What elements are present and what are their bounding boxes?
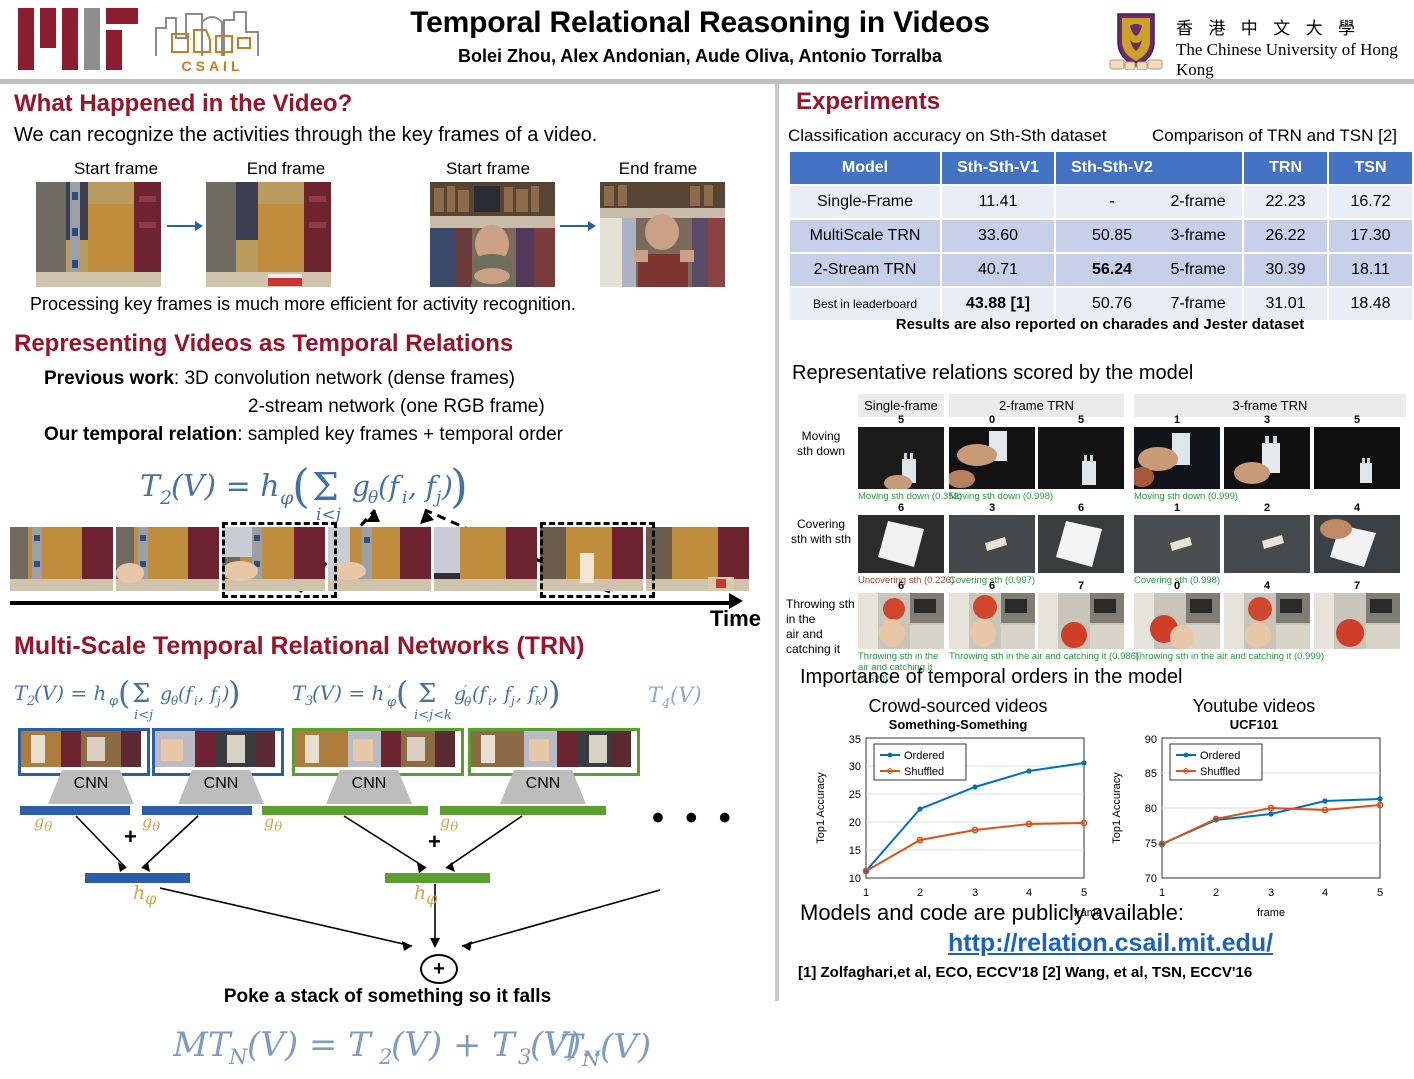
table2-caption: Comparison of TRN and TSN [2]	[1152, 126, 1397, 146]
svg-text:5: 5	[1377, 887, 1383, 899]
rr-r2-three-num-1: 2	[1224, 502, 1310, 514]
t2-r1-tsn: 17.30	[1329, 220, 1412, 252]
tables-note: Results are also reported on charades an…	[786, 316, 1414, 333]
svg-text:25: 25	[849, 789, 861, 801]
cuhk-shield-icon	[1108, 10, 1164, 70]
svg-text:90: 90	[1145, 734, 1157, 746]
t2-r2-frame: 5-frame	[1154, 254, 1242, 286]
poster-header: CSAIL Temporal Relational Reasoning in V…	[0, 0, 1414, 80]
t2-r2-trn: 30.39	[1244, 254, 1327, 286]
rr-r1-three-num-0: 1	[1134, 414, 1220, 426]
chart1-title: Crowd-sourced videos	[808, 696, 1108, 717]
frame-label-start-1: Start frame	[36, 159, 196, 179]
section1-caption: Processing key frames is much more effic…	[30, 294, 576, 315]
rr-r1-three-num-2: 5	[1314, 414, 1400, 426]
rr-r1-three-img-1	[1224, 427, 1310, 489]
chart2-legend-ordered: Ordered	[1200, 750, 1240, 762]
cuhk-english-name: The Chinese University of Hong Kong	[1176, 40, 1408, 80]
formula-t4-small: T4(V)	[648, 674, 728, 719]
svg-text:(f: (f	[178, 683, 195, 705]
time-axis-label: Time	[710, 606, 761, 632]
svg-text:2: 2	[1213, 887, 1219, 899]
video-thumb-end-2	[600, 182, 725, 287]
rr-r1-two-img-1	[1038, 427, 1124, 489]
t2-r0-frame: 2-frame	[1154, 186, 1242, 218]
chart1-plot: 101520 253035 123 45 frame Top1 Accuracy…	[808, 732, 1108, 920]
column-divider	[775, 84, 779, 1001]
chart1-ylabel: Top1 Accuracy	[815, 772, 827, 844]
csail-skyline-icon	[150, 8, 275, 60]
table-row: 5-frame 30.39 18.11	[1154, 254, 1412, 286]
rr-r2-three-num-0: 1	[1134, 502, 1220, 514]
chart2-plot: 707580 8590 123 45 frame Top1 Accuracy O…	[1104, 732, 1404, 920]
rr-r3-three-pred: Throwing sth in the air and catching it …	[1134, 651, 1324, 662]
our-relation-text: : sampled key frames + temporal order	[237, 424, 563, 445]
references-text: [1] Zolfaghari,et al, ECO, ECCV'18 [2] W…	[798, 964, 1252, 981]
rr-r2-two-img-0	[949, 515, 1035, 573]
svg-text:MT: MT	[173, 1025, 233, 1065]
chart-crowd-sourced: Crowd-sourced videos Something-Something…	[808, 696, 1108, 926]
cnn-label-3: CNN	[326, 772, 412, 796]
svg-text:10: 10	[849, 873, 861, 885]
author-list: Bolei Zhou, Alex Andonian, Aude Oliva, A…	[290, 46, 1110, 67]
rr-r1-two-num-0: 0	[949, 414, 1035, 426]
rr-r3-three-img-2	[1314, 593, 1400, 649]
table2-col-trn: TRN	[1244, 152, 1327, 184]
arrow-icon-1	[167, 219, 203, 231]
svg-text:30: 30	[849, 761, 861, 773]
rr-row-label-1: Movingsth down	[788, 429, 854, 459]
rr-r1-three-pred: Moving sth down (0.999)	[1134, 491, 1238, 502]
svg-text:2: 2	[917, 887, 923, 899]
formula-t2-small: T2 (V) = hφ ( Σ gθ (fi , fj ) ) i<j	[14, 670, 254, 733]
left-column: What Happened in the Video? We can recog…	[0, 84, 775, 1001]
svg-text:1: 1	[1159, 887, 1165, 899]
rr-r2-two-img-1	[1038, 515, 1124, 573]
svg-text:(: (	[396, 674, 408, 712]
svg-text:Σ: Σ	[418, 679, 436, 709]
svg-text:(V): (V)	[600, 1027, 651, 1067]
svg-text:): )	[228, 674, 240, 712]
poke-caption: Poke a stack of something so it falls	[0, 986, 775, 1008]
rr-r2-three-img-0	[1134, 515, 1220, 573]
trn-group-2frame-a	[18, 728, 150, 776]
t1-r0-v1: 11.41	[942, 186, 1054, 218]
svg-text:i<j: i<j	[134, 708, 153, 723]
rr-r2-two-num-1: 6	[1038, 502, 1124, 514]
chart2-subtitle: UCF101	[1104, 717, 1404, 732]
rr-r3-two-img-0	[949, 593, 1035, 649]
rr-r3-single-img	[858, 593, 944, 649]
svg-text:N: N	[581, 1047, 601, 1071]
right-column: Experiments Classification accuracy on S…	[786, 84, 1414, 1001]
svg-text:35: 35	[849, 734, 861, 746]
rr-r2-single-num: 6	[858, 502, 944, 514]
accuracy-table: Model Sth-Sth-V1 Sth-Sth-V2 Single-Frame…	[788, 150, 1170, 322]
rr-r3-two-img-1	[1038, 593, 1124, 649]
previous-work-line2: 2-stream network (one RGB frame)	[248, 396, 545, 418]
video-thumb-end-1	[206, 182, 331, 287]
chart2-ylabel: Top1 Accuracy	[1111, 772, 1123, 844]
csail-wordmark: CSAIL	[150, 58, 275, 74]
rr-r3-three-num-1: 4	[1224, 580, 1310, 592]
chart2-legend-shuffled: Shuffled	[1200, 766, 1240, 778]
filmstrip-frame-7	[646, 527, 749, 591]
section-multiscale-title: Multi-Scale Temporal Relational Networks…	[14, 632, 584, 661]
section1-lead-text: We can recognize the activities through …	[14, 124, 597, 147]
svg-text:θ: θ	[464, 695, 472, 709]
filmstrip-frame-2	[116, 527, 219, 591]
cnn-label-1: CNN	[48, 772, 134, 796]
cnn-label-4: CNN	[500, 772, 586, 796]
svg-text:85: 85	[1145, 768, 1157, 780]
charts-section-title: Importance of temporal orders in the mod…	[800, 666, 1182, 689]
trn-tsn-table: TRN TSN 2-frame 22.23 16.72 3-frame 26.2…	[1152, 150, 1414, 322]
rr-r3-three-num-0: 0	[1134, 580, 1220, 592]
svg-text:Σ: Σ	[132, 679, 150, 709]
table2-col-tsn: TSN	[1329, 152, 1412, 184]
t1-r1-model: MultiScale TRN	[790, 220, 940, 252]
svg-text:i<j<k: i<j<k	[414, 708, 452, 723]
rr-r1-single-pred: Moving sth down (0.352)	[858, 491, 962, 502]
t1-r1-v1: 33.60	[942, 220, 1054, 252]
models-code-text: Models and code are publicly available:	[800, 900, 1184, 926]
previous-work-line: Previous work: 3D convolution network (d…	[44, 368, 515, 390]
poster-root: CSAIL Temporal Relational Reasoning in V…	[0, 0, 1414, 1001]
ellipsis-more-scales: • • •	[652, 799, 737, 838]
frame-label-start-2: Start frame	[408, 159, 568, 179]
cuhk-chinese-name: 香 港 中 文 大 學	[1176, 14, 1360, 39]
svg-text:(f: (f	[472, 683, 489, 705]
t2-r1-frame: 3-frame	[1154, 220, 1242, 252]
svg-text:15: 15	[849, 845, 861, 857]
table-row: Single-Frame 11.41 -	[790, 186, 1168, 218]
filmstrip-highlight-box-1	[222, 522, 337, 598]
rr-r3-two-num-0: 6	[949, 580, 1035, 592]
chart-youtube: Youtube videos UCF101 707580 8590 123 45…	[1104, 696, 1404, 926]
section-experiments-title: Experiments	[796, 88, 940, 116]
rr-r2-three-img-2	[1314, 515, 1400, 573]
table1-col-model: Model	[790, 152, 940, 184]
previous-work-text: : 3D convolution network (dense frames)	[174, 368, 515, 389]
rr-r1-single-img	[858, 427, 944, 489]
filmstrip-frame-1	[10, 527, 113, 591]
chart1-subtitle: Something-Something	[808, 717, 1108, 732]
svg-text:(V): (V)	[670, 683, 702, 707]
summation-node: +	[420, 954, 458, 984]
video-thumb-start-1	[36, 182, 161, 287]
h-phi-label-1: hφ	[133, 882, 156, 908]
t1-r2-model: 2-Stream TRN	[790, 254, 940, 286]
rr-r1-three-img-2	[1314, 427, 1400, 489]
rr-r1-single-num: 5	[858, 414, 944, 426]
rr-r2-single-img	[858, 515, 944, 573]
section-what-happened-title: What Happened in the Video?	[14, 90, 352, 118]
rr-r1-two-pred: Moving sth down (0.998)	[949, 491, 1053, 502]
table2-col-blank	[1154, 152, 1242, 184]
rr-r3-three-img-1	[1224, 593, 1310, 649]
rr-r1-two-num-1: 5	[1038, 414, 1124, 426]
chart1-legend-ordered: Ordered	[904, 750, 944, 762]
trn-group-2frame-b	[152, 728, 284, 776]
chart2-title: Youtube videos	[1104, 696, 1404, 717]
frame-label-end-2: End frame	[578, 159, 738, 179]
rr-row-label-2: Coveringsth with sth	[786, 517, 856, 547]
svg-text:(V) = T: (V) = T	[247, 1025, 373, 1065]
t2-r0-trn: 22.23	[1244, 186, 1327, 218]
chart1-legend-shuffled: Shuffled	[904, 766, 944, 778]
svg-text:4: 4	[1322, 887, 1328, 899]
rr-r1-three-num-1: 3	[1224, 414, 1310, 426]
our-relation-line: Our temporal relation: sampled key frame…	[44, 424, 563, 446]
formula-mtn-tail: TN(V)	[560, 1022, 670, 1077]
rr-r3-three-img-0	[1134, 593, 1220, 649]
rr-r2-two-num-0: 3	[949, 502, 1035, 514]
svg-text:(V) = h: (V) = h	[312, 681, 384, 705]
table-row: 2-frame 22.23 16.72	[1154, 186, 1412, 218]
t2-r2-tsn: 18.11	[1329, 254, 1412, 286]
rr-row-label-3: Throwing sth in theair and catching it	[786, 597, 860, 657]
rr-r3-three-num-2: 7	[1314, 580, 1400, 592]
svg-text:70: 70	[1145, 873, 1157, 885]
svg-text:80: 80	[1145, 803, 1157, 815]
time-axis-line	[10, 601, 730, 605]
t2-r0-tsn: 16.72	[1329, 186, 1412, 218]
svg-text:(V) + T: (V) + T	[391, 1025, 517, 1065]
svg-text:4: 4	[1026, 887, 1032, 899]
relation-bar-green	[385, 873, 490, 883]
filmstrip-frame-4	[328, 527, 431, 591]
project-url-link[interactable]: http://relation.csail.mit.edu/	[948, 929, 1273, 958]
t1-r0-model: Single-Frame	[790, 186, 940, 218]
mit-logo	[18, 8, 138, 70]
our-relation-label: Our temporal relation	[44, 424, 237, 445]
svg-text:75: 75	[1145, 838, 1157, 850]
rr-r1-three-img-0	[1134, 427, 1220, 489]
rr-r3-two-pred: Throwing sth in the air and catching it …	[949, 651, 1139, 662]
svg-text:N: N	[228, 1045, 248, 1069]
rr-r3-single-num: 6	[858, 580, 944, 592]
video-thumb-start-2	[430, 182, 555, 287]
table-row: 3-frame 26.22 17.30	[1154, 220, 1412, 252]
representative-relations-title: Representative relations scored by the m…	[792, 362, 1193, 385]
t1-r2-v1: 40.71	[942, 254, 1054, 286]
svg-text:5: 5	[1081, 887, 1087, 899]
formula-t3-small: T3 (V) = h′φ ( Σ g′θ (fi , fj , fk ) ) i…	[292, 670, 582, 733]
rr-r2-three-num-2: 4	[1314, 502, 1400, 514]
svg-text:(V) = h: (V) = h	[34, 681, 106, 705]
rr-r3-two-num-1: 7	[1038, 580, 1124, 592]
trn-group-3frame-a	[292, 728, 464, 776]
svg-text:T: T	[140, 469, 162, 504]
cnn-label-2: CNN	[178, 772, 264, 796]
filmstrip-frame-5	[434, 527, 537, 591]
previous-work-label: Previous work	[44, 368, 174, 389]
svg-text:3: 3	[1268, 887, 1274, 899]
rr-r1-two-img-0	[949, 427, 1035, 489]
rr-r2-three-img-1	[1224, 515, 1310, 573]
frame-label-end-1: End frame	[206, 159, 366, 179]
table-row: 2-Stream TRN 40.71 56.24	[790, 254, 1168, 286]
table1-caption: Classification accuracy on Sth-Sth datas…	[788, 126, 1106, 146]
cuhk-logo: 香 港 中 文 大 學 The Chinese University of Ho…	[1108, 8, 1408, 74]
svg-text:20: 20	[849, 817, 861, 829]
csail-logo: CSAIL	[150, 8, 275, 76]
trn-group-3frame-b	[468, 728, 640, 776]
table1-header-row: Model Sth-Sth-V1 Sth-Sth-V2	[790, 152, 1168, 184]
chart2-xlabel: frame	[1257, 907, 1285, 919]
page-title: Temporal Relational Reasoning in Videos	[290, 6, 1110, 40]
svg-text:(: (	[118, 674, 130, 712]
svg-text:): )	[548, 674, 560, 712]
table-row: MultiScale TRN 33.60 50.85	[790, 220, 1168, 252]
table2-header-row: TRN TSN	[1154, 152, 1412, 184]
h-phi-label-2: hφ	[414, 882, 437, 908]
table1-col-v1: Sth-Sth-V1	[942, 152, 1054, 184]
svg-text:3: 3	[972, 887, 978, 899]
svg-text:4: 4	[661, 697, 670, 712]
svg-text:1: 1	[863, 887, 869, 899]
arrow-icon-2	[560, 219, 596, 231]
filmstrip-highlight-box-2	[540, 522, 655, 598]
section-representing-title: Representing Videos as Temporal Relation…	[14, 330, 513, 358]
t2-r1-trn: 26.22	[1244, 220, 1327, 252]
